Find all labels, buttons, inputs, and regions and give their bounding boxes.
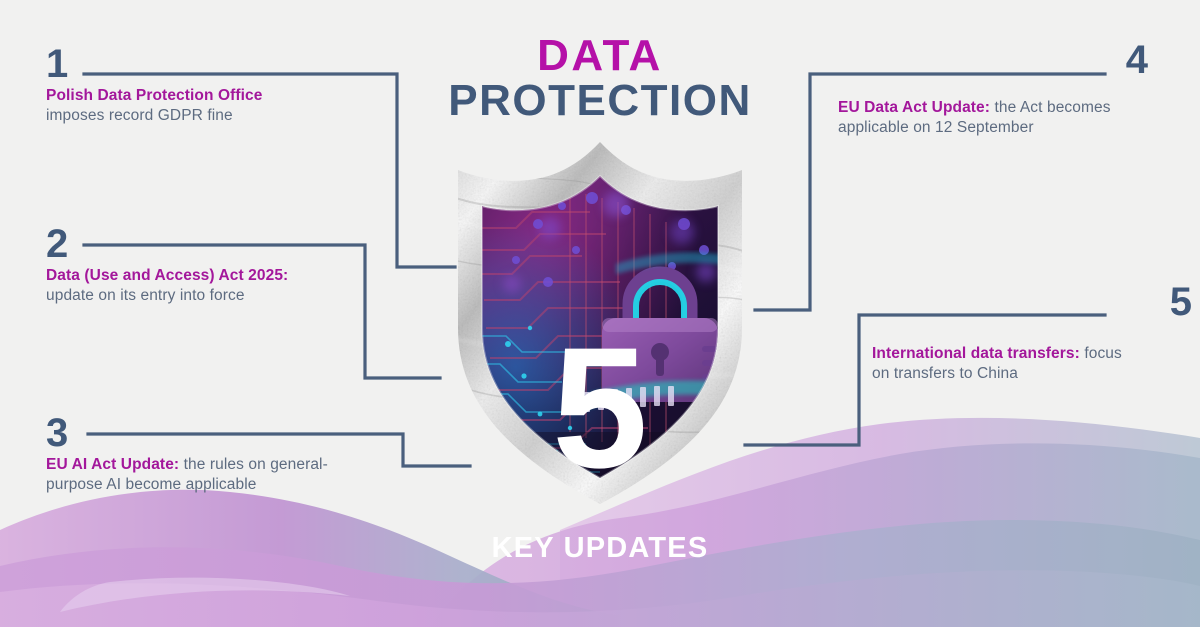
callout-item-3[interactable]: 3 EU AI Act Update: the rules on general…: [46, 413, 346, 495]
callout-number-2: 2: [46, 224, 366, 264]
title-line-data: DATA: [400, 34, 800, 79]
callout-text-4: EU Data Act Update: the Act becomes appl…: [838, 98, 1130, 138]
callout-item-2[interactable]: 2 Data (Use and Access) Act 2025: update…: [46, 224, 366, 306]
callout-heading-4: EU Data Act Update:: [838, 99, 990, 116]
title-line-protection: PROTECTION: [400, 79, 800, 124]
callout-item-1[interactable]: 1 Polish Data Protection Office imposes …: [46, 44, 346, 126]
shield-illustration: [420, 132, 780, 512]
page-title: DATA PROTECTION: [400, 34, 800, 124]
callout-text-1: Polish Data Protection Office imposes re…: [46, 86, 346, 126]
callout-heading-3: EU AI Act Update:: [46, 456, 179, 473]
callout-number-row-5: 5: [1170, 282, 1192, 324]
callout-text-5: International data transfers: focus on t…: [872, 344, 1140, 384]
callout-heading-5: International data transfers:: [872, 345, 1080, 362]
callout-item-4[interactable]: 4 EU Data Act Update: the Act becomes ap…: [838, 44, 1130, 138]
callout-body-1: imposes record GDPR fine: [46, 107, 233, 124]
callout-item-5[interactable]: 5 International data transfers: focus on…: [872, 286, 1140, 384]
callout-heading-2: Data (Use and Access) Act 2025:: [46, 267, 288, 284]
callout-text-2: Data (Use and Access) Act 2025: update o…: [46, 266, 366, 306]
shield-graphic: 5 KEY UPDATES: [420, 132, 780, 512]
callout-number-3: 3: [46, 413, 346, 453]
callout-number-5: 5: [1170, 282, 1192, 322]
callout-body-2: update on its entry into force: [46, 287, 245, 304]
callout-number-4: 4: [1126, 40, 1148, 80]
callout-number-1: 1: [46, 44, 346, 84]
callout-text-3: EU AI Act Update: the rules on general-p…: [46, 455, 346, 495]
callout-number-row-4: 4: [1126, 40, 1148, 82]
callout-heading-1: Polish Data Protection Office: [46, 87, 263, 104]
